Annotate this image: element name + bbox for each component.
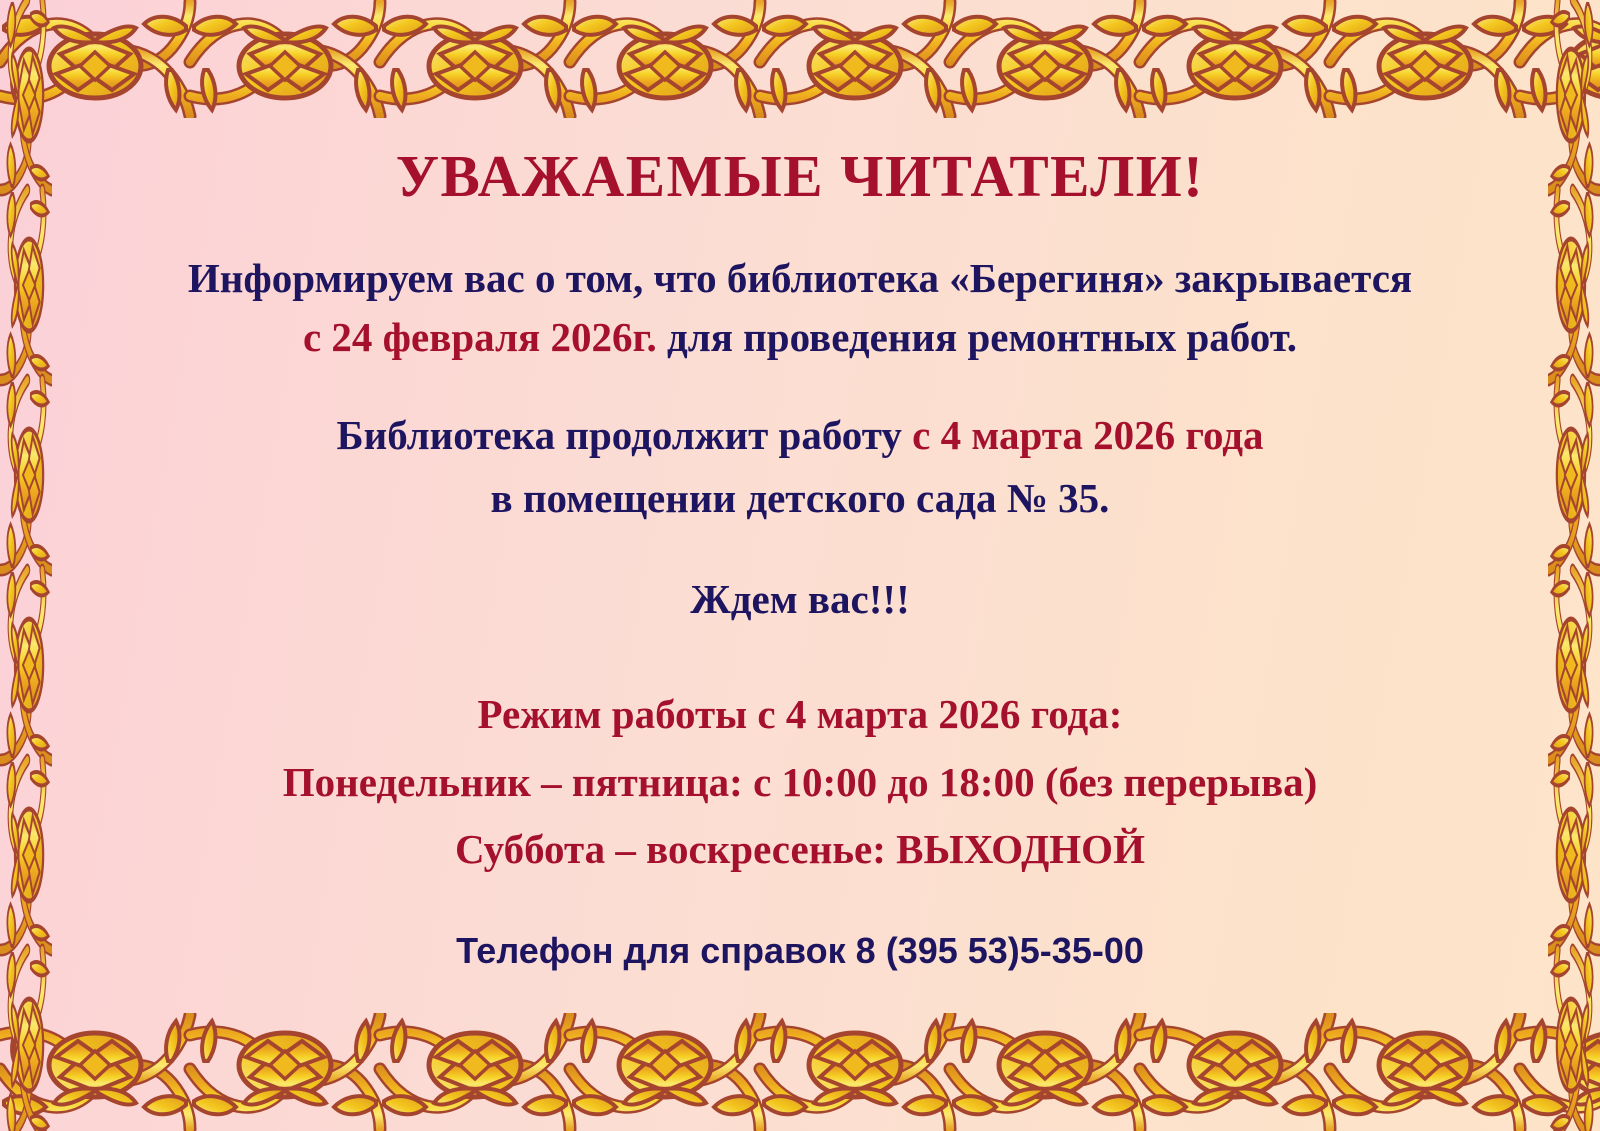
poster: УВАЖАЕМЫЕ ЧИТАТЕЛИ! Информируем вас о то…	[0, 0, 1600, 1131]
ornament-border-top	[0, 0, 1600, 118]
schedule-hours: Понедельник – пятница: с 10:00 до 18:00 …	[283, 756, 1318, 877]
poster-content: УВАЖАЕМЫЕ ЧИТАТЕЛИ! Информируем вас о то…	[52, 118, 1548, 1013]
schedule-heading: Режим работы с 4 марта 2026 года:	[478, 688, 1123, 741]
ornament-border-right	[1548, 0, 1600, 1131]
closure-notice-line2: с 24 февраля 2026г. для проведения ремон…	[60, 311, 1540, 364]
closure-reason: для проведения ремонтных работ.	[657, 314, 1297, 360]
ornament-border-bottom	[0, 1013, 1600, 1131]
invitation-text: Ждем вас!!!	[690, 573, 909, 626]
reopening-paragraph: Библиотека продолжит работу с 4 марта 20…	[336, 409, 1263, 526]
schedule-weekdays: Понедельник – пятница: с 10:00 до 18:00 …	[283, 759, 1318, 805]
contact-phone: Телефон для справок 8 (395 53)5-35-00	[456, 928, 1144, 975]
reopening-location: в помещении детского сада № 35.	[336, 472, 1263, 525]
closure-notice-line1: Информируем вас о том, что библиотека «Б…	[188, 255, 1412, 301]
closure-notice-paragraph: Информируем вас о том, что библиотека «Б…	[60, 252, 1540, 365]
reopening-date: с 4 марта 2026 года	[912, 412, 1263, 458]
schedule-weekend: Суббота – воскресенье: ВЫХОДНОЙ	[283, 823, 1318, 876]
poster-title: УВАЖАЕМЫЕ ЧИТАТЕЛИ!	[396, 146, 1205, 208]
closure-date: с 24 февраля 2026г.	[303, 314, 657, 360]
ornament-border-left	[0, 0, 52, 1131]
reopening-lead: Библиотека продолжит работу	[336, 412, 912, 458]
